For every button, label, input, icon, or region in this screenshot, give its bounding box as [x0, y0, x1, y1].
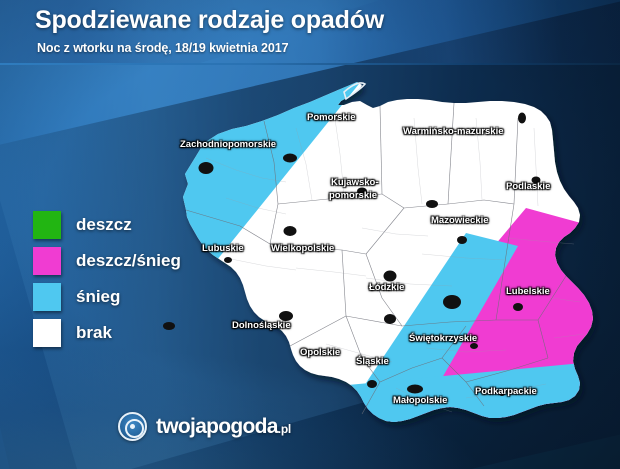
- brand-logo[interactable]: twojapogoda.pl: [118, 412, 291, 441]
- legend-swatch-snow: [33, 283, 61, 311]
- legend-label-snow: śnieg: [76, 287, 120, 307]
- legend-swatch-rain-snow: [33, 247, 61, 275]
- brand-name: twojapogoda.pl: [156, 415, 291, 439]
- region-label-slaskie: Śląskie: [356, 356, 389, 367]
- page-subtitle: Noc z wtorku na środę, 18/19 kwietnia 20…: [37, 41, 288, 55]
- region-label-warminsko-mazurskie: Warmińsko-mazurskie: [403, 126, 504, 137]
- legend-item-rain: deszcz: [33, 207, 181, 243]
- region-label-dolnoslaskie: Dolnośląskie: [232, 320, 291, 331]
- legend-item-none: brak: [33, 315, 181, 351]
- weather-map-graphic: Spodziewane rodzaje opadów Noc z wtorku …: [0, 0, 620, 469]
- legend-item-snow: śnieg: [33, 279, 181, 315]
- page-title: Spodziewane rodzaje opadów: [35, 6, 384, 35]
- region-label-zachodniopomorskie: Zachodniopomorskie: [180, 139, 276, 150]
- legend-swatch-none: [33, 319, 61, 347]
- region-label-lubuskie: Lubuskie: [202, 243, 244, 254]
- legend: deszcz deszcz/śnieg śnieg brak: [33, 207, 181, 351]
- region-label-mazowieckie: Mazowieckie: [431, 215, 489, 226]
- legend-label-none: brak: [76, 323, 112, 343]
- region-label-wielkopolskie: Wielkopolskie: [271, 243, 334, 254]
- region-label-lodzkie: Łódzkie: [369, 282, 404, 293]
- region-label-podlaskie: Podlaskie: [506, 181, 550, 192]
- region-label-lubelskie: Lubelskie: [506, 286, 550, 297]
- region-label-kujawsko-line2: pomorskie: [329, 190, 377, 201]
- region-label-kujawsko-line1: Kujawsko-: [331, 177, 379, 188]
- region-label-opolskie: Opolskie: [300, 347, 340, 358]
- brand-tld: .pl: [278, 422, 291, 436]
- poland-map: Zachodniopomorskie Pomorskie Warmińsko-m…: [166, 58, 620, 440]
- brand-word: twojapogoda: [156, 415, 278, 438]
- legend-label-rain-snow: deszcz/śnieg: [76, 251, 181, 271]
- radar-icon: [118, 412, 147, 441]
- region-label-podkarpackie: Podkarpackie: [475, 386, 537, 397]
- legend-item-rain-snow: deszcz/śnieg: [33, 243, 181, 279]
- region-label-pomorskie: Pomorskie: [307, 112, 356, 123]
- region-label-malopolskie: Małopolskie: [393, 395, 447, 406]
- legend-label-rain: deszcz: [76, 215, 132, 235]
- legend-swatch-rain: [33, 211, 61, 239]
- region-label-swietokrzyskie: Świętokrzyskie: [409, 333, 477, 344]
